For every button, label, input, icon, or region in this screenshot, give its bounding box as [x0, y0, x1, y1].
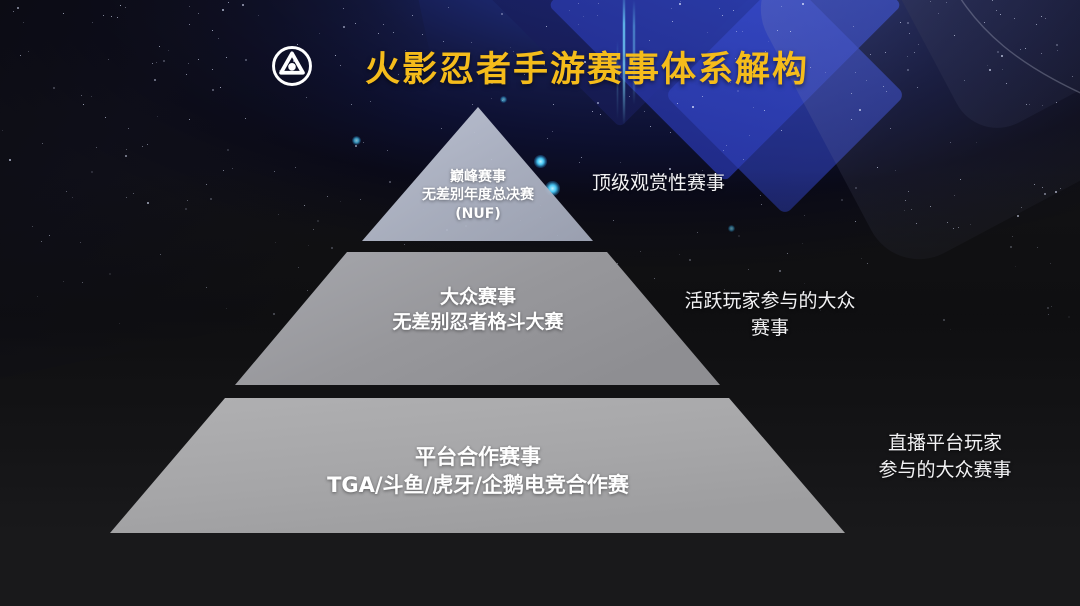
tier-top-line2: 无差别年度总决赛: [422, 187, 534, 203]
tier-bottom-note-line2: 参与的大众赛事: [878, 459, 1011, 481]
tier-top-note-line1: 顶级观赏性赛事: [592, 172, 725, 194]
slide-canvas: 火影忍者手游赛事体系解构 巅峰赛事 无差别年度: [0, 0, 1080, 606]
tier-middle-label: 大众赛事 无差别忍者格斗大赛: [318, 285, 638, 335]
tier-bottom-line2: TGA/斗鱼/虎牙/企鹅电竞合作赛: [327, 473, 629, 497]
tier-top-label: 巅峰赛事 无差别年度总决赛 (NUF): [366, 168, 590, 223]
tier-middle-line1: 大众赛事: [440, 286, 516, 308]
tier-top-line3: (NUF): [455, 206, 500, 222]
tier-bottom-note: 直播平台玩家 参与的大众赛事: [845, 430, 1045, 484]
tier-bottom-label: 平台合作赛事 TGA/斗鱼/虎牙/企鹅电竞合作赛: [228, 444, 728, 499]
tier-middle-note-line2: 赛事: [751, 317, 789, 339]
tier-middle-note: 活跃玩家参与的大众 赛事: [660, 288, 880, 342]
tier-middle-line2: 无差别忍者格斗大赛: [392, 311, 563, 333]
tier-top-note: 顶级观赏性赛事: [592, 170, 822, 197]
tier-top-line1: 巅峰赛事: [450, 169, 506, 185]
tier-bottom-line1: 平台合作赛事: [415, 445, 541, 469]
tier-bottom-note-line1: 直播平台玩家: [888, 432, 1002, 454]
tier-middle-note-line1: 活跃玩家参与的大众: [684, 290, 855, 312]
